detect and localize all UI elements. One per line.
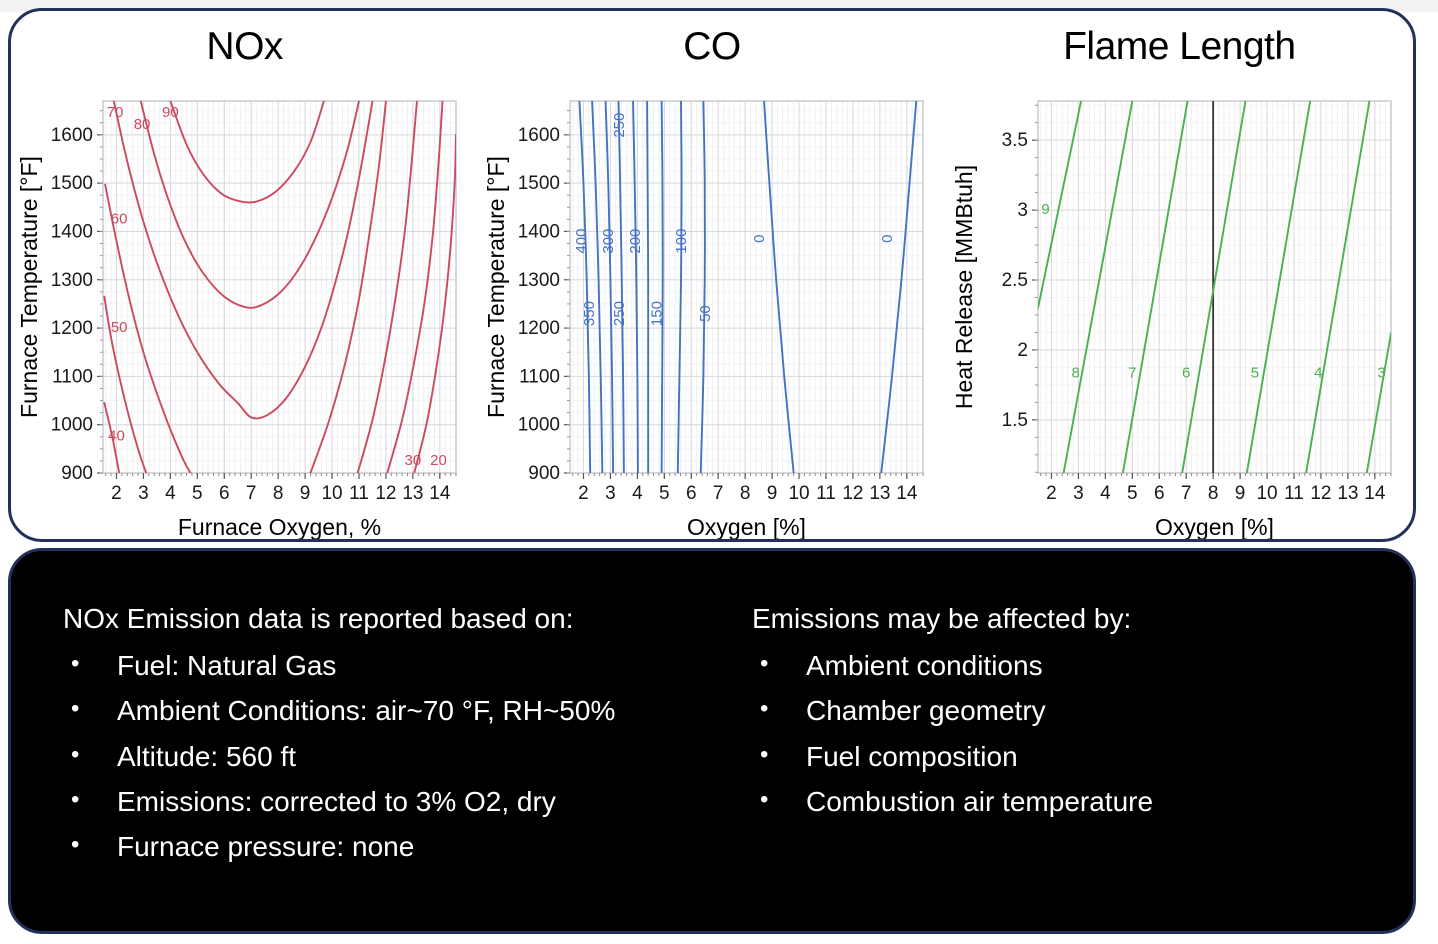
chart-co: CO 4003503002502502001501005000234567891… [478,11,945,539]
y-axis-tick-label: 3.5 [1001,130,1027,151]
x-axis-tick-label: 9 [1234,483,1245,504]
notes-columns: NOx Emission data is reported based on: … [11,551,1413,931]
contour-label: 250 [611,301,628,326]
x-axis-tick-label: 13 [870,483,891,504]
contour-label: 250 [611,113,628,138]
list-item-label: Ambient conditions [806,643,1413,688]
x-axis-tick-label: 4 [632,483,643,504]
bullet-icon: • [63,734,117,777]
y-axis-tick-label: 1600 [51,125,93,146]
x-axis-tick-label: 6 [219,483,230,504]
contour-label: 400 [573,229,590,254]
x-axis-tick-label: 13 [1337,483,1358,504]
list-item: •Fuel composition [752,734,1413,779]
list-item-label: Altitude: 560 ft [117,734,724,779]
list-item: •Combustion air temperature [752,779,1413,824]
chart-title-nox: NOx [11,25,478,69]
notes-card: NOx Emission data is reported based on: … [8,548,1416,934]
x-axis-tick-label: 7 [246,483,257,504]
y-axis-tick-label: 900 [529,463,561,484]
bullet-icon: • [63,688,117,731]
plot-svg: 4003503002502502001501005000234567891011… [478,89,945,541]
y-axis-tick-label: 2.5 [1001,270,1027,291]
x-axis-tick-label: 13 [402,483,423,504]
y-axis-tick-label: 1500 [518,173,560,194]
x-axis-tick-label: 12 [1310,483,1331,504]
list-item-label: Fuel composition [806,734,1413,779]
x-axis-tick-label: 14 [429,483,451,504]
x-axis-tick-label: 7 [1181,483,1192,504]
bullet-icon: • [63,779,117,822]
list-item: •Chamber geometry [752,688,1413,733]
bullet-icon: • [752,688,806,731]
chart-title-flame-length: Flame Length [946,25,1413,69]
x-axis-tick-label: 2 [111,483,122,504]
contour-label: 8 [1071,365,1079,382]
notes-column-right: Emissions may be affected by: •Ambient c… [724,551,1413,931]
plot-area-flame-length: 98765432345678910111213141.522.533.5Oxyg… [946,89,1413,541]
contour-label: 40 [108,428,125,445]
plot-area-nox: 4050607080903020234567891011121314900100… [11,89,478,541]
x-axis-tick-label: 7 [713,483,724,504]
contour-label: 20 [430,452,447,469]
list-item-label: Chamber geometry [806,688,1413,733]
y-axis-tick-label: 1400 [51,221,93,242]
list-item-label: Emissions: corrected to 3% O2, dry [117,779,724,824]
x-axis-tick-label: 3 [605,483,616,504]
x-axis-tick-label: 4 [165,483,176,504]
bullet-icon: • [752,643,806,686]
x-axis-tick-label: 12 [843,483,864,504]
y-axis-tick-label: 1200 [51,318,93,339]
x-axis-tick-label: 10 [1256,483,1277,504]
y-axis-tick-label: 3 [1017,200,1028,221]
x-axis-tick-label: 14 [897,483,919,504]
x-axis-tick-label: 11 [1284,483,1304,504]
x-axis-tick-label: 6 [1154,483,1165,504]
y-axis-tick-label: 1000 [51,415,93,436]
x-axis-tick-label: 3 [138,483,149,504]
list-item-label: Furnace pressure: none [117,824,724,869]
x-axis-tick-label: 2 [1046,483,1057,504]
contour-line [662,101,663,473]
bullet-icon: • [752,734,806,777]
x-axis-tick-label: 4 [1100,483,1111,504]
contour-label: 90 [162,104,179,121]
contour-label: 6 [1182,365,1190,382]
bullet-icon: • [752,779,806,822]
contour-label: 3 [1377,365,1385,382]
contour-label: 9 [1041,201,1049,218]
x-axis-tick-label: 5 [659,483,670,504]
y-axis-label: Furnace Temperature [°F] [483,156,509,418]
y-axis-tick-label: 900 [61,463,93,484]
plot-svg: 98765432345678910111213141.522.533.5Oxyg… [946,89,1413,541]
contour-label: 150 [649,301,666,326]
charts-card: NOx 405060708090302023456789101112131490… [8,8,1416,542]
x-axis-tick-label: 12 [375,483,396,504]
y-axis-tick-label: 1500 [51,173,93,194]
notes-heading-left: NOx Emission data is reported based on: [63,603,724,635]
x-axis-tick-label: 6 [686,483,697,504]
y-axis-tick-label: 1.5 [1001,410,1027,431]
notes-heading-right: Emissions may be affected by: [752,603,1413,635]
list-item: •Altitude: 560 ft [63,734,724,779]
x-axis-tick-label: 9 [300,483,311,504]
contour-label: 50 [697,305,714,322]
bullet-icon: • [63,643,117,686]
x-axis-tick-label: 8 [1208,483,1219,504]
x-axis-label: Oxygen [%] [687,514,806,540]
x-axis-tick-label: 5 [1127,483,1138,504]
x-axis-tick-label: 9 [767,483,778,504]
y-axis-tick-label: 2 [1017,340,1028,361]
contour-label: 350 [582,301,599,326]
contour-label: 0 [879,235,896,243]
contour-label: 200 [627,229,644,254]
x-axis-tick-label: 3 [1073,483,1084,504]
contour-label: 0 [751,235,768,243]
x-axis-tick-label: 11 [349,483,369,504]
list-item-label: Ambient Conditions: air~70 °F, RH~50% [117,688,724,733]
list-item: •Fuel: Natural Gas [63,643,724,688]
list-item-label: Combustion air temperature [806,779,1413,824]
y-axis-tick-label: 1400 [518,221,560,242]
contour-label: 7 [1128,365,1136,382]
contour-label: 60 [111,210,128,227]
list-item: •Ambient conditions [752,643,1413,688]
chart-flame-length: Flame Length 98765432345678910111213141.… [946,11,1413,539]
notes-column-left: NOx Emission data is reported based on: … [11,551,724,931]
x-axis-label: Oxygen [%] [1155,514,1274,540]
y-axis-tick-label: 1600 [518,125,560,146]
contour-label: 5 [1250,365,1258,382]
plot-area-co: 4003503002502502001501005000234567891011… [478,89,945,541]
contour-label: 300 [600,229,617,254]
list-item: •Furnace pressure: none [63,824,724,869]
x-axis-tick-label: 8 [273,483,284,504]
y-axis-label: Furnace Temperature [°F] [16,156,42,418]
notes-list-right: •Ambient conditions•Chamber geometry•Fue… [752,643,1413,824]
list-item-label: Fuel: Natural Gas [117,643,724,688]
contour-label: 50 [111,319,128,336]
x-axis-tick-label: 2 [579,483,590,504]
notes-list-left: •Fuel: Natural Gas•Ambient Conditions: a… [63,643,724,870]
y-axis-tick-label: 1100 [52,366,93,387]
y-axis-tick-label: 1300 [518,270,560,291]
list-item: •Ambient Conditions: air~70 °F, RH~50% [63,688,724,733]
x-axis-tick-label: 10 [789,483,810,504]
x-axis-tick-label: 10 [321,483,342,504]
x-axis-tick-label: 11 [816,483,836,504]
bullet-icon: • [63,824,117,867]
x-axis-label: Furnace Oxygen, % [178,514,381,540]
x-axis-tick-label: 14 [1364,483,1386,504]
contour-label: 70 [107,104,124,121]
contour-label: 4 [1314,365,1322,382]
x-axis-tick-label: 5 [192,483,203,504]
chart-nox: NOx 405060708090302023456789101112131490… [11,11,478,539]
y-axis-tick-label: 1300 [51,270,93,291]
contour-line [647,101,648,473]
y-axis-label: Heat Release [MMBtuh] [951,165,977,409]
y-axis-tick-label: 1200 [518,318,560,339]
chart-title-co: CO [478,25,945,69]
y-axis-tick-label: 1100 [519,366,560,387]
plot-svg: 4050607080903020234567891011121314900100… [11,89,478,541]
x-axis-tick-label: 8 [740,483,751,504]
contour-label: 80 [134,116,151,133]
contour-label: 100 [673,229,690,254]
contour-label: 30 [405,452,422,469]
list-item: •Emissions: corrected to 3% O2, dry [63,779,724,824]
charts-row: NOx 405060708090302023456789101112131490… [11,11,1413,539]
y-axis-tick-label: 1000 [518,415,560,436]
